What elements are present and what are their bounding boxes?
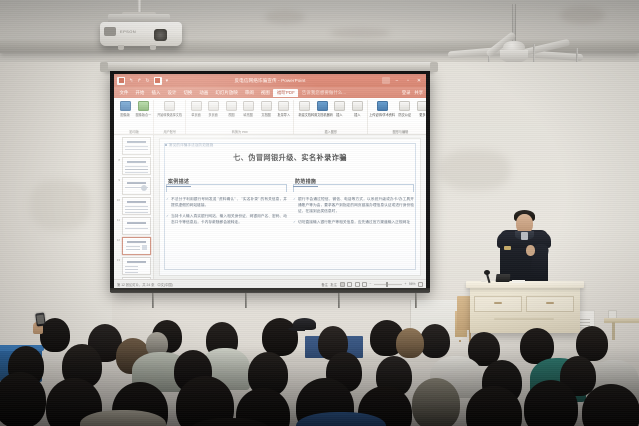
check-icon: ✓ [166,197,169,209]
projector-foot [150,45,156,50]
ceiling-stain [330,28,390,38]
check-icon: ✓ [293,197,296,215]
slide-title: 七、伪冒网银升级、实名补录诈骗 [166,153,414,163]
slide-thumbnail-pane[interactable]: 8 9 10 [114,135,154,279]
smartphone [35,312,46,326]
slide-editing-area[interactable]: 常见的诈骗手法及防范措施 七、伪冒网银升级、实名补录诈骗 案例描述 ✓ 不法分子… [154,135,426,279]
share-label[interactable]: 共享 [414,90,423,96]
single-page-icon[interactable] [191,101,202,111]
zoom-slider[interactable] [374,284,402,285]
transcode-icon[interactable] [317,101,328,111]
slide-thumbnail[interactable] [122,217,152,235]
notary-icon[interactable] [399,101,410,111]
ribbon-button[interactable]: 转置文档机器码 [315,101,330,117]
ribbon-button[interactable]: 图像版合一 [136,101,151,117]
thumbnail-row-selected[interactable]: 12 [116,237,151,255]
thumbnail-row[interactable] [116,137,151,155]
bullet-text: 切勿直接输入银行账户等相关信息，应先通过官方渠道输入正规网址 [298,220,410,226]
new-doc-icon[interactable] [299,101,310,111]
slide-thumbnail-selected[interactable] [122,237,152,255]
ribbon-button[interactable]: 插入 [332,101,347,117]
thumbnail-number: 13 [116,257,120,262]
comments-button[interactable]: 批注 [330,282,337,287]
zoom-out-icon[interactable]: − [370,282,372,286]
ribbon-button-label: 填充图 [244,112,253,117]
status-right-group[interactable]: 备注 批注 − + 56% [321,282,423,287]
zoom-slider-knob[interactable] [386,282,388,287]
ribbon-button-label: 上传证明/学术资料 [370,112,396,117]
cap-brim [288,327,305,331]
ribbon-button-label: 更多 [419,112,425,117]
sign-in-label[interactable]: 登录 [402,90,411,96]
projector-foot [118,45,124,50]
slide-sorter-icon[interactable] [347,282,352,287]
ribbon-group-image: 图像版 图像版合一 影印版 [116,100,154,134]
slide-kicker-text: 常见的诈骗手法及防范措施 [166,143,414,148]
audience [0,300,639,426]
image-pdf-icon[interactable] [120,101,131,111]
ribbon-button[interactable]: 防交公证 [397,101,412,117]
audience-head [0,372,46,426]
ribbon-button[interactable]: 单页面 [189,101,204,117]
ppt-status-bar[interactable]: 第 12 张幻灯片，共 24 张 中文(中国) 备注 批注 − + 56% [114,279,426,288]
ribbon-button-label: 防交公证 [398,112,410,117]
notes-button[interactable]: 备注 [321,282,328,287]
ribbon-button[interactable]: 多页面 [206,101,221,117]
insert2-icon[interactable] [352,101,363,111]
fit-slide-icon[interactable] [418,282,423,287]
ribbon-group-edit: 上传证明/学术资料 防交公证 更多 图形与编辑 [369,100,427,134]
podium-top-surface [466,281,584,288]
screen-housing-end [430,62,438,72]
screen-bottom-bar [110,288,430,293]
tab-insert[interactable]: 插入 [148,89,164,97]
ribbon-group-label: 影印版 [130,129,139,134]
ppt-title-bar: ↰ ↱ ↻ ▾ 反电信网络诈骗宣传 - PowerPoint − ▫ ✕ [114,74,426,87]
slide-bullet: ✓ 银行不会通过短信、微信、电话等方式，以系统升级或办卡/办工具开通账户等为由，… [293,197,414,215]
slide-thumbnail[interactable] [122,197,152,215]
ribbon-group-label: 用户账号 [163,129,175,134]
projector-lens [154,29,167,41]
tell-me-box[interactable]: 告诉我您想要做什么... [298,89,349,97]
ribbon-button[interactable]: 视图 [224,101,239,117]
slideshow-view-icon[interactable] [362,282,367,287]
ceiling-stain [265,10,305,24]
tab-file[interactable]: 文件 [116,89,132,97]
restore-icon[interactable]: ▫ [404,78,412,84]
ribbon-button[interactable]: 更多 [415,101,427,117]
merge-image-icon[interactable] [138,101,149,111]
slide-two-columns: 案例描述 ✓ 不法分子利用银行号码发送 "资料确认" 、 "实名补录" 的有关信… [166,170,414,226]
audience-head [582,384,639,426]
check-icon: ✓ [293,220,296,226]
ribbon-button[interactable]: 图像版 [118,101,133,117]
ribbon[interactable]: 图像版 图像版合一 影印版 [114,98,426,135]
check-icon: ✓ [166,214,169,226]
tab-slideshow[interactable]: 幻灯片放映 [212,89,241,97]
screen-roller-housing [104,62,434,71]
view-icon[interactable] [226,101,237,111]
audience-head [420,324,450,358]
zoom-in-icon[interactable]: + [404,282,406,286]
lecture-hall-photo: EPSON ↰ ↱ ↻ [0,0,639,426]
fill-icon[interactable] [243,101,254,111]
ribbon-group-account: 开始转换选择文档 用户账号 [155,100,186,134]
slide-thumbnail[interactable] [122,257,152,275]
thumbnail-number: 8 [116,157,120,162]
ribbon-button-label: 插入 [336,112,342,117]
thumbnail-row[interactable]: 13 [116,257,151,275]
slide-thumbnail[interactable] [122,137,152,155]
thumbnail-row[interactable]: 8 [116,157,151,175]
thumbnail-number: 12 [116,237,120,242]
thumbnail-row[interactable]: 10 [116,197,151,215]
normal-view-icon[interactable] [340,282,345,287]
ribbon-group-label: 插入图形 [325,129,337,134]
audience-head [396,328,424,358]
ribbon-button[interactable]: 填充图 [241,101,256,117]
column-heading: 防范措施 [293,178,318,187]
ribbon-button[interactable]: 批量导入 [276,101,291,117]
ribbon-button-label: 多页面 [209,112,218,117]
screen-housing-end [100,62,108,72]
slide-thumbnail[interactable] [122,177,152,195]
wall-patch [440,150,510,190]
bullet-text: 银行不会通过短信、微信、电话等方式，以系统升级或办卡/办工具开通账户等为由，要求… [298,197,414,215]
ribbon-group-label: 图形与编辑 [392,129,408,134]
projection-screen: ↰ ↱ ↻ ▾ 反电信网络诈骗宣传 - PowerPoint − ▫ ✕ [110,70,430,292]
thumbnail-row[interactable]: 9 [116,177,151,195]
slide-thumbnail[interactable] [122,157,152,175]
column-heading: 案例描述 [166,178,191,187]
audience-head [412,378,460,426]
thumbnail-row[interactable]: 14 [116,277,151,279]
close-icon[interactable]: ✕ [415,78,423,84]
ribbon-button-label: 转置文档机器码 [311,112,333,117]
papers [512,280,525,283]
ribbon-button-label: 图像版 [121,112,130,117]
thumbnail-number [116,137,120,138]
ribbon-group-convert: 单页面 多页面 视图 [187,100,295,134]
ribbon-button-label: 图像版合一 [135,112,151,117]
language-indicator[interactable]: 中文(中国) [157,282,172,287]
tab-review[interactable]: 审阅 [241,89,257,97]
doc-icon[interactable] [261,101,272,111]
batch-import-icon[interactable] [278,101,289,111]
ribbon-button[interactable]: 插入 [350,101,365,117]
account-area[interactable]: 登录 共享 [402,90,426,96]
convert-icon[interactable] [164,101,175,111]
tab-view[interactable]: 视图 [257,89,273,97]
multi-page-icon[interactable] [208,101,219,111]
slide-counter: 第 12 张幻灯片，共 24 张 [117,282,154,287]
powerpoint-window: ↰ ↱ ↻ ▾ 反电信网络诈骗宣传 - PowerPoint − ▫ ✕ [114,74,426,288]
laptop [496,274,511,282]
ribbon-button-label: 新建文档 [298,112,310,117]
projected-image: ↰ ↱ ↻ ▾ 反电信网络诈骗宣传 - PowerPoint − ▫ ✕ [114,74,426,288]
minimize-icon[interactable]: − [393,78,401,84]
reading-view-icon[interactable] [355,282,360,287]
tab-home[interactable]: 开始 [132,89,148,97]
thumbnail-row[interactable]: 11 [116,217,151,235]
ppt-workspace: 8 9 10 [114,135,426,279]
projector-brand-label: EPSON [120,29,136,34]
ribbon-button[interactable]: 文档图 [259,101,274,117]
slide-column-measures: 防范措施 ✓ 银行不会通过短信、微信、电话等方式，以系统升级或办卡/办工具开通账… [293,170,414,226]
upload-icon[interactable] [377,101,388,111]
tab-design[interactable]: 设计 [164,89,180,97]
ribbon-button-label: 批量导入 [277,112,289,117]
ribbon-button-label: 单页面 [191,112,200,117]
slide-bullet: ✓ 切勿直接输入银行账户等相关信息，应先通过官方渠道输入正规网址 [293,220,414,226]
ribbon-button[interactable]: 开始转换选择文档 [157,101,183,117]
current-slide[interactable]: 常见的诈骗手法及防范措施 七、伪冒网银升级、实名补录诈骗 案例描述 ✓ 不法分子… [159,138,421,276]
thumbnail-number: 9 [116,177,120,182]
microphone-icon [484,270,490,275]
phone-screen [36,314,44,324]
slide-thumbnail[interactable] [122,277,152,279]
ribbon-button-label: 文档图 [261,112,270,117]
uniform-shoulder-badge [504,246,511,250]
wall-patch [30,180,90,230]
ceiling-stain [560,6,605,24]
cup [481,277,486,282]
document-title: 反电信网络诈骗宣传 - PowerPoint [114,78,426,84]
ribbon-group-insert: 新建文档 转置文档机器码 插入 [295,100,368,134]
thumbnail-number: 10 [116,197,120,202]
thumbnail-number: 11 [116,217,120,222]
tab-transitions[interactable]: 切换 [180,89,196,97]
insert-icon[interactable] [334,101,345,111]
slide-column-case: 案例描述 ✓ 不法分子利用银行号码发送 "资料确认" 、 "实名补录" 的有关信… [166,170,287,226]
ribbon-button-label: 插入 [354,112,360,117]
presenter-shirt [521,232,528,240]
slide-bullet: ✓ 当持卡人输入真实银行网站、输入相关身份证、网银用户名、密码、动态口令等信息后… [166,214,287,226]
ribbon-tab-bar[interactable]: 文件 开始 插入 设计 切换 动画 幻灯片放映 审阅 视图 福昕PDF 告诉我您… [114,87,426,98]
ribbon-button-label: 视图 [228,112,234,117]
ribbon-button[interactable]: 上传证明/学术资料 [371,101,395,117]
window-controls[interactable]: − ▫ ✕ [382,77,426,84]
ribbon-button-label: 开始转换选择文档 [157,112,182,117]
ribbon-group-label: 转换为 PDF [232,129,248,134]
bullet-text: 不法分子利用银行号码发送 "资料确认" 、 "实名补录" 的有关信息，并提供虚假… [171,197,287,209]
presenter-hand [526,245,535,256]
ribbon-button[interactable]: 新建文档 [297,101,312,117]
slide-bullet: ✓ 不法分子利用银行号码发送 "资料确认" 、 "实名补录" 的有关信息，并提供… [166,197,287,209]
more-icon[interactable] [417,101,427,111]
tab-animations[interactable]: 动画 [196,89,212,97]
zoom-level[interactable]: 56% [409,282,416,286]
ribbon-options-icon[interactable] [382,77,390,84]
bullet-text: 当持卡人输入真实银行网站、输入相关身份证、网银用户名、密码、动态口令等信息后，卡… [171,214,287,226]
tab-foxit-pdf[interactable]: 福昕PDF [273,89,298,97]
projector-vent [104,27,116,36]
